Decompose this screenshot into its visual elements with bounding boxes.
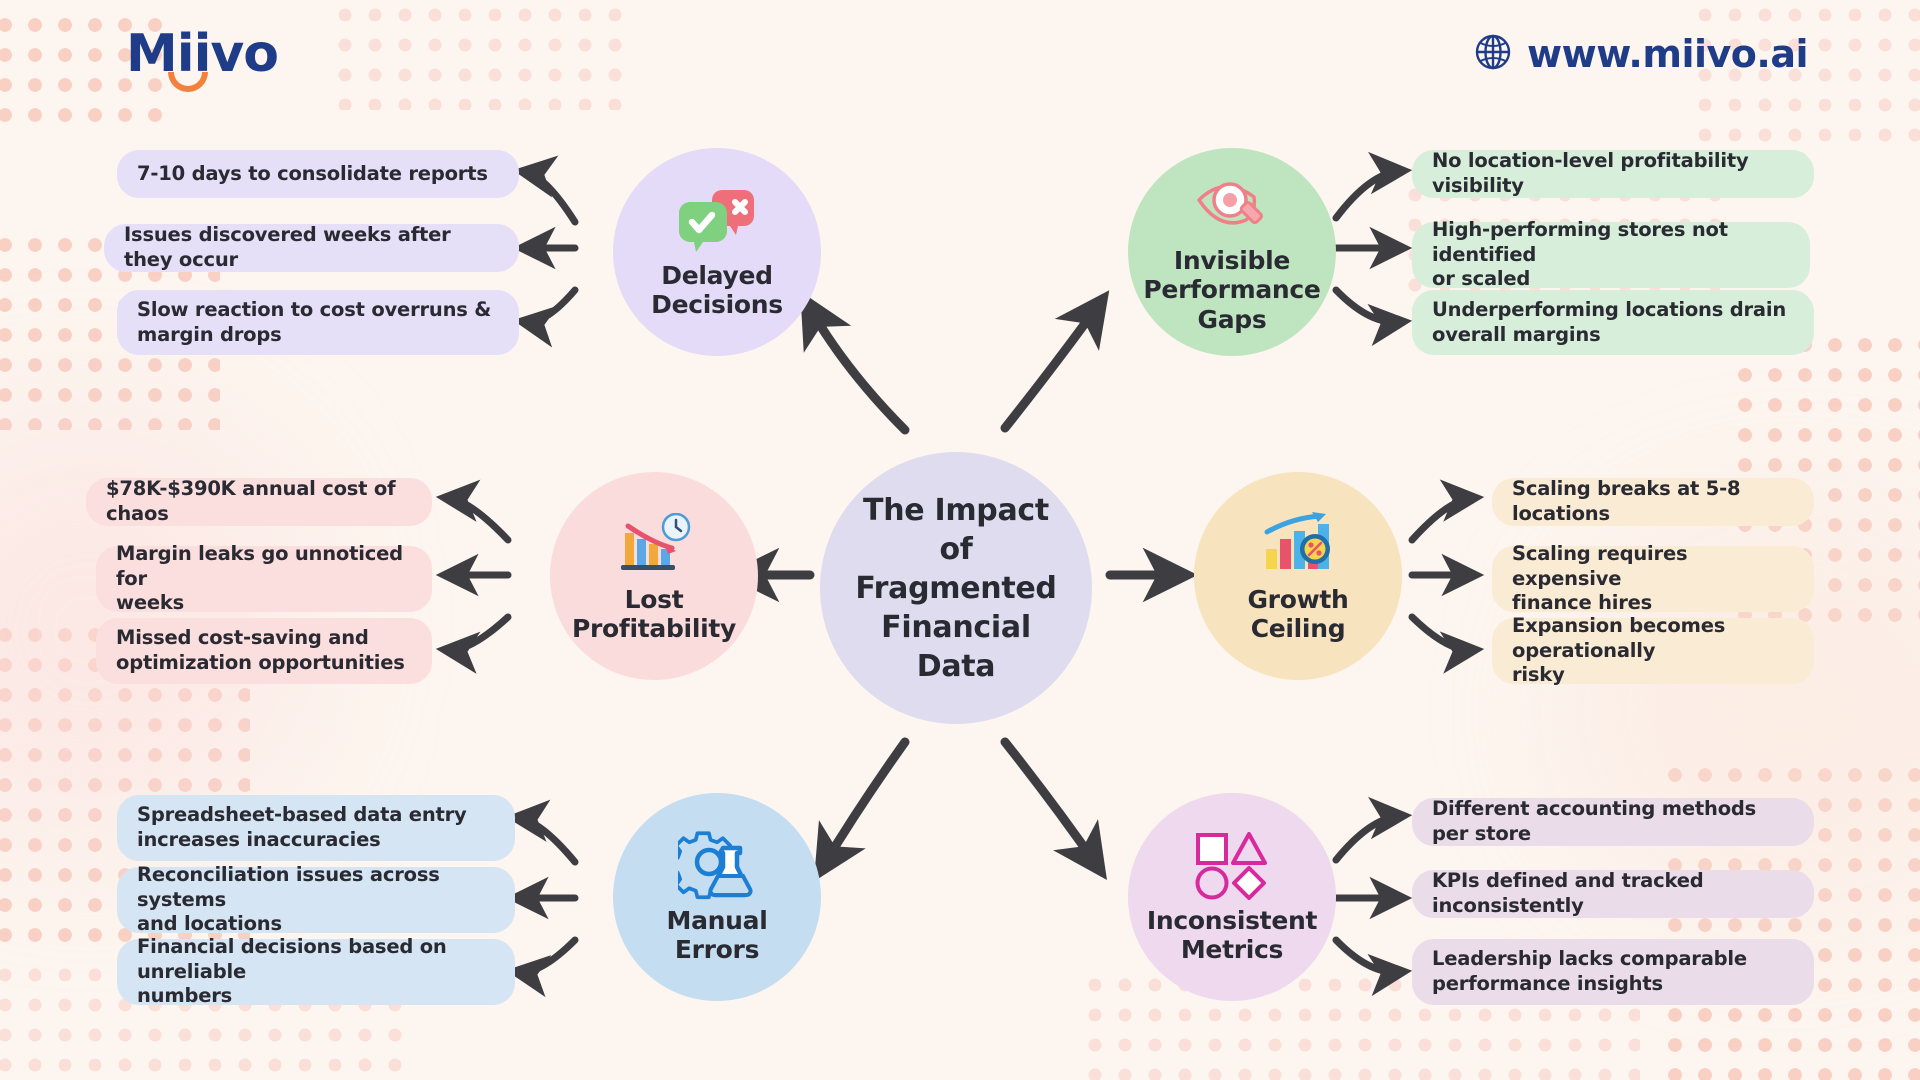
chip-manual-errors-3: Financial decisions based on unreliable … [117, 939, 515, 1005]
chip-manual-errors-1: Spreadsheet-based data entry increases i… [117, 795, 515, 861]
node-label-inconsistent-metrics: Inconsistent Metrics [1147, 906, 1317, 965]
gear-flask-icon [678, 830, 756, 902]
chip-manual-errors-2: Reconciliation issues across systems and… [117, 867, 515, 933]
brand-logo[interactable]: Miivo [126, 28, 278, 80]
node-label-lost-profitability: Lost Profitability [572, 585, 736, 644]
chip-invisible-performance-gaps-3: Underperforming locations drain overall … [1412, 290, 1814, 355]
node-lost-profitability[interactable]: Lost Profitability [550, 472, 758, 680]
chip-inconsistent-metrics-3: Leadership lacks comparable performance … [1412, 939, 1814, 1005]
eye-magnifier-icon [1193, 170, 1271, 242]
chip-growth-ceiling-1: Scaling breaks at 5-8 locations [1492, 478, 1814, 526]
node-inconsistent-metrics[interactable]: Inconsistent Metrics [1128, 793, 1336, 1001]
chip-invisible-performance-gaps-2: High-performing stores not identified or… [1412, 222, 1810, 288]
chip-growth-ceiling-2: Scaling requires expensive finance hires [1492, 546, 1814, 612]
logo-smile-arc-icon [168, 72, 208, 92]
hub-title: The Impact of Fragmented Financial Data [820, 491, 1092, 686]
rising-bar-chart-percent-icon [1259, 509, 1337, 581]
chip-inconsistent-metrics-2: KPIs defined and tracked inconsistently [1412, 870, 1814, 918]
chip-invisible-performance-gaps-1: No location-level profitability visibili… [1412, 150, 1814, 198]
node-label-manual-errors: Manual Errors [667, 906, 768, 965]
chip-delayed-decisions-1: 7-10 days to consolidate reports [117, 150, 519, 198]
declining-bar-chart-clock-icon [615, 509, 693, 581]
center-hub: The Impact of Fragmented Financial Data [820, 452, 1092, 724]
speech-bubbles-check-cross-icon [678, 185, 756, 257]
shapes-square-triangle-circle-diamond-icon [1193, 830, 1271, 902]
node-label-invisible-performance-gaps: Invisible Performance Gaps [1143, 246, 1320, 335]
chip-lost-profitability-2: Margin leaks go unnoticed for weeks [96, 546, 432, 612]
node-growth-ceiling[interactable]: Growth Ceiling [1194, 472, 1402, 680]
chip-inconsistent-metrics-1: Different accounting methods per store [1412, 798, 1814, 846]
node-delayed-decisions[interactable]: Delayed Decisions [613, 148, 821, 356]
chip-delayed-decisions-3: Slow reaction to cost overruns & margin … [117, 290, 519, 355]
chip-lost-profitability-3: Missed cost-saving and optimization oppo… [96, 618, 432, 684]
node-manual-errors[interactable]: Manual Errors [613, 793, 821, 1001]
node-label-delayed-decisions: Delayed Decisions [651, 261, 783, 320]
website-url-text: www.miivo.ai [1527, 32, 1808, 76]
node-label-growth-ceiling: Growth Ceiling [1247, 585, 1348, 644]
chip-lost-profitability-1: $78K-$390K annual cost of chaos [86, 478, 432, 526]
chip-delayed-decisions-2: Issues discovered weeks after they occur [104, 224, 519, 272]
node-invisible-performance-gaps[interactable]: Invisible Performance Gaps [1128, 148, 1336, 356]
background-dot-cluster-top-center [330, 0, 630, 110]
website-url[interactable]: www.miivo.ai [1473, 32, 1808, 76]
globe-icon [1473, 32, 1513, 76]
chip-growth-ceiling-3: Expansion becomes operationally risky [1492, 618, 1814, 684]
